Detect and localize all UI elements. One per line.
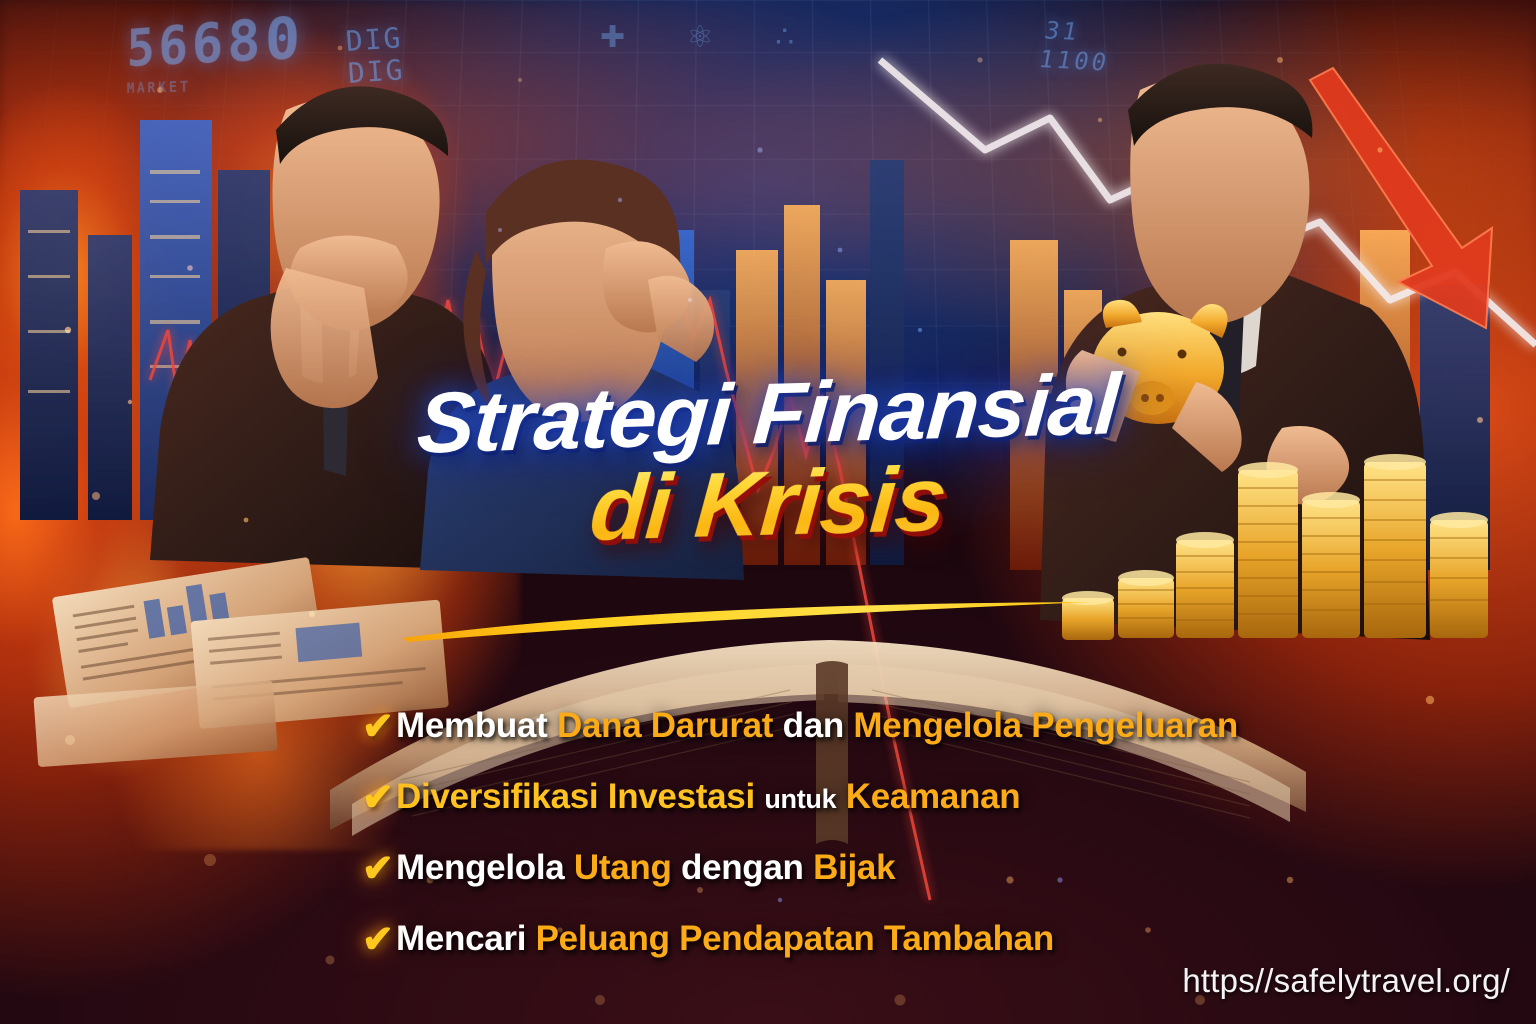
poster-canvas: 56680 MARKET DIGDIGOG 311100 ✚ ⚛ ∴ — [0, 0, 1536, 1024]
list-item: ✔ Mencari Peluang Pendapatan Tambahan — [362, 919, 1372, 967]
billboard-number-display: 56680 MARKET — [127, 4, 305, 97]
check-icon: ✔ — [362, 708, 396, 746]
list-item-text: Mengelola Utang dengan Bijak — [396, 848, 895, 888]
check-icon: ✔ — [362, 921, 396, 959]
bullet-word: untuk — [764, 784, 836, 814]
benefits-list: ✔ Membuat Dana Darurat dan Mengelola Pen… — [362, 706, 1372, 990]
list-item-text: Diversifikasi Investasi untuk Keamanan — [396, 777, 1020, 817]
list-item: ✔ Membuat Dana Darurat dan Mengelola Pen… — [362, 706, 1372, 754]
list-item-text: Mencari Peluang Pendapatan Tambahan — [396, 919, 1054, 959]
neon-sign-right: 311100 — [1036, 16, 1117, 77]
title-underline-swoosh — [398, 600, 1098, 644]
bullet-word: Mengelola — [396, 848, 564, 887]
bullet-word: Mencari — [396, 919, 526, 958]
bullet-word-accent: Peluang Pendapatan Tambahan — [536, 919, 1054, 958]
list-item-text: Membuat Dana Darurat dan Mengelola Penge… — [396, 706, 1238, 746]
bullet-word-accent: Mengelola Pengeluaran — [853, 706, 1238, 745]
science-glyphs: ✚ ⚛ ∴ — [600, 20, 820, 55]
bullet-word-accent: Utang — [574, 848, 672, 887]
bullet-word: Membuat — [396, 706, 548, 745]
website-url[interactable]: https//safelytravel.org/ — [1182, 962, 1510, 1000]
bullet-word: dan — [783, 706, 844, 745]
bullet-word-accent: Dana Darurat — [557, 706, 773, 745]
check-icon: ✔ — [362, 850, 396, 888]
list-item: ✔ Mengelola Utang dengan Bijak — [362, 848, 1372, 896]
bullet-word-accent: Diversifikasi Investasi — [396, 777, 755, 816]
bullet-word-accent: Keamanan — [846, 777, 1021, 816]
list-item: ✔ Diversifikasi Investasi untuk Keamanan — [362, 777, 1372, 825]
bullet-word: dengan — [681, 848, 804, 887]
billboard-subtext: MARKET — [127, 74, 305, 97]
check-icon: ✔ — [362, 779, 396, 817]
poster-title: Strategi Finansial di Krisis — [0, 372, 1536, 550]
neon-sign-left: DIGDIGOG — [345, 22, 408, 122]
bullet-word-accent: Bijak — [813, 848, 895, 887]
